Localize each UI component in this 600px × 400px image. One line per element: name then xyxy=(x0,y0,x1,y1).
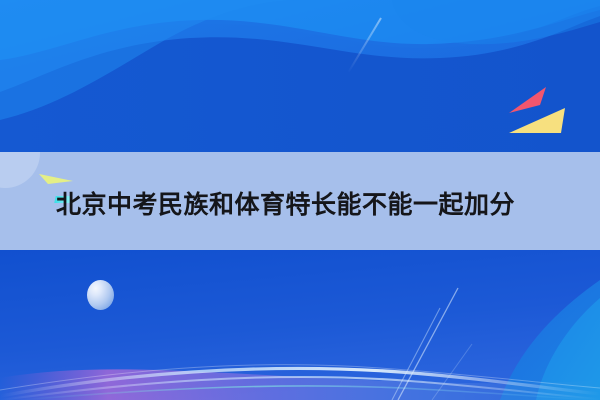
top-wave-graphic xyxy=(0,0,600,152)
bottom-glow-graphic xyxy=(0,250,600,400)
band-corner-accent xyxy=(0,152,40,188)
top-wave-section xyxy=(0,0,600,152)
banner-image: 北京中考民族和体育特长能不能一起加分 xyxy=(0,0,600,400)
triangle-arrow-icon xyxy=(38,170,74,186)
bottom-glow-section xyxy=(0,250,600,400)
page-title: 北京中考民族和体育特长能不能一起加分 xyxy=(56,188,576,222)
bubble-sphere-icon xyxy=(87,280,114,310)
